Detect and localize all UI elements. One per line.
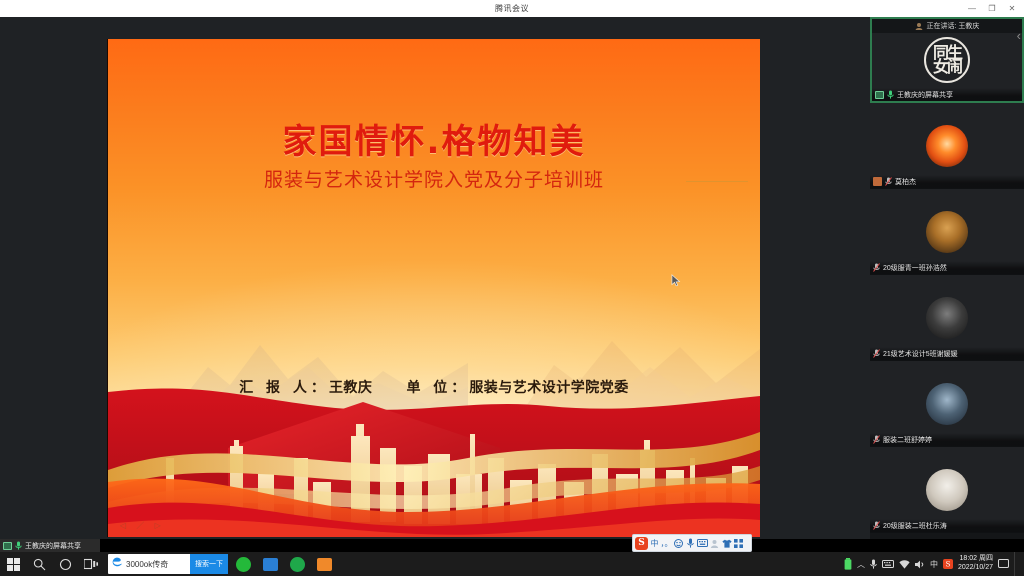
edge-icon: [111, 555, 123, 573]
avatar: [926, 297, 968, 339]
participant-tile-3[interactable]: 20级服青一班孙浩然: [870, 189, 1024, 275]
mic-muted-icon: [873, 521, 880, 530]
screen-share-notice[interactable]: 王教庆的屏幕共享: [0, 539, 100, 552]
presenter-name: 王教庆: [329, 380, 373, 396]
browser-task-label: 3000ok传奇: [126, 559, 168, 570]
taskbar-left-group: 3000ok传奇 搜索一下: [0, 552, 336, 576]
chevron-left-icon[interactable]: ‹: [1017, 29, 1021, 42]
mic-icon: [887, 90, 894, 99]
tile-namebar: 王教庆的屏幕共享: [872, 88, 1022, 101]
avatar: [926, 125, 968, 167]
cortana-icon[interactable]: [52, 552, 78, 576]
search-go-button[interactable]: 搜索一下: [190, 554, 228, 574]
mouse-cursor: [671, 274, 681, 287]
participant-tile-5[interactable]: 服装二班舒婷婷: [870, 361, 1024, 447]
participant-tile-4[interactable]: 21级艺术设计5班谢媛媛: [870, 275, 1024, 361]
participant-tile-6[interactable]: 20级服装二班杜乐涛: [870, 447, 1024, 533]
sogou-tray-icon[interactable]: S: [943, 559, 953, 569]
taskbar-clock[interactable]: 18:02 周四 2022/10/27: [958, 555, 993, 573]
tile-name: 服装二班舒婷婷: [883, 435, 932, 445]
tile-name: 20级服青一班孙浩然: [883, 263, 947, 273]
chevron-up-icon[interactable]: ︿: [857, 559, 865, 570]
avatar: [926, 383, 968, 425]
minimize-icon[interactable]: —: [962, 0, 982, 17]
folder-icon[interactable]: [258, 552, 282, 576]
avatar: [926, 469, 968, 511]
browser-search-task[interactable]: 3000ok传奇 搜索一下: [108, 554, 228, 574]
slide-divider-rule: [686, 181, 748, 182]
ime-punctuation-icon[interactable]: ，。: [661, 537, 672, 550]
clock-date: 2022/10/27: [958, 564, 993, 571]
tile-namebar: 莫柏杰: [870, 175, 1024, 188]
speaking-banner-text: 正在讲话: 王教庆: [927, 21, 980, 31]
screen-share-icon: [3, 542, 12, 550]
participant-rail[interactable]: 同生女闹 正在讲话: 王教庆 ‹ 王教庆的屏幕共享: [870, 17, 1024, 539]
window-controls: — ❐ ✕: [962, 0, 1022, 17]
tile-name: 王教庆的屏幕共享: [897, 90, 953, 100]
mic-icon: [15, 541, 22, 550]
slide-footer-line: 汇 报 人：王教庆单 位：服装与艺术设计学院党委: [108, 377, 760, 397]
slide-subtitle: 服装与艺术设计学院入党及分子培训班: [108, 165, 760, 192]
show-desktop-button[interactable]: [1014, 552, 1020, 576]
mic-muted-icon: [873, 435, 880, 444]
participant-tile-screen-share[interactable]: 同生女闹 正在讲话: 王教庆 ‹ 王教庆的屏幕共享: [870, 17, 1024, 103]
windows-taskbar: 3000ok传奇 搜索一下 ︿ 中 S 18:02 周四 2022/1: [0, 552, 1024, 576]
ime-toolbox-icon[interactable]: [733, 537, 744, 550]
system-tray: ︿ 中 S 18:02 周四 2022/10/27: [844, 552, 1024, 576]
close-icon[interactable]: ✕: [1002, 0, 1022, 17]
meeting-icon[interactable]: [312, 552, 336, 576]
tile-namebar: 服装二班舒婷婷: [870, 433, 1024, 446]
presenter-label: 汇 报 人：: [239, 380, 329, 396]
ime-keyboard-icon[interactable]: [697, 537, 708, 550]
clock-time: 18:02 周四: [960, 555, 993, 562]
start-icon[interactable]: [0, 552, 26, 576]
search-icon[interactable]: [26, 552, 52, 576]
qq-icon[interactable]: [285, 552, 309, 576]
ime-cn-icon[interactable]: 中: [930, 559, 938, 570]
task-view-icon[interactable]: [78, 552, 104, 576]
mic-muted-icon: [873, 263, 880, 272]
ime-account-icon[interactable]: [709, 537, 720, 550]
slide-nav-controls[interactable]: ◁ ／ ▷: [120, 520, 165, 531]
svg-text:S: S: [946, 561, 951, 569]
seal-avatar: 同生女闹: [924, 37, 970, 83]
speaker-avatar-icon: [915, 22, 923, 30]
mic-muted-icon: [885, 177, 892, 186]
slide-title: 家国情怀.格物知美: [108, 114, 760, 163]
maximize-icon[interactable]: ❐: [982, 0, 1002, 17]
keyboard-icon[interactable]: [882, 560, 894, 568]
notification-icon[interactable]: [998, 559, 1009, 569]
presentation-slide[interactable]: 家国情怀.格物知美 服装与艺术设计学院入党及分子培训班 汇 报 人：王教庆单 位…: [108, 39, 760, 537]
wechat-icon[interactable]: [231, 552, 255, 576]
window-title: 腾讯会议: [495, 3, 529, 14]
ime-language-toggle[interactable]: 中: [649, 537, 660, 550]
org-label: 单 位：: [406, 380, 469, 396]
meeting-window: 家国情怀.格物知美 服装与艺术设计学院入党及分子培训班 汇 报 人：王教庆单 位…: [0, 17, 1024, 539]
tile-name: 21级艺术设计5班谢媛媛: [883, 349, 958, 359]
sogou-ime-toolbar[interactable]: S 中 ，。: [632, 534, 752, 552]
ime-emoji-icon[interactable]: [673, 537, 684, 550]
org-name: 服装与艺术设计学院党委: [469, 380, 629, 396]
mic-icon[interactable]: [870, 559, 877, 569]
share-notice-label: 王教庆的屏幕共享: [25, 541, 81, 551]
shared-screen-stage: 家国情怀.格物知美 服装与艺术设计学院入党及分子培训班 汇 报 人：王教庆单 位…: [0, 17, 870, 539]
tile-namebar: 20级服青一班孙浩然: [870, 261, 1024, 274]
tile-namebar: 21级艺术设计5班谢媛媛: [870, 347, 1024, 360]
user-icon: [873, 177, 882, 186]
speaking-banner: 正在讲话: 王教庆: [872, 19, 1022, 33]
mic-muted-icon: [873, 349, 880, 358]
sogou-logo-icon[interactable]: S: [635, 537, 648, 550]
window-titlebar: 腾讯会议 — ❐ ✕: [0, 0, 1024, 17]
tile-name: 莫柏杰: [895, 177, 916, 187]
volume-icon[interactable]: [915, 560, 925, 569]
tile-namebar: 20级服装二班杜乐涛: [870, 519, 1024, 532]
battery-icon[interactable]: [844, 558, 852, 570]
ime-voice-input-icon[interactable]: [685, 537, 696, 550]
network-icon[interactable]: [899, 560, 910, 569]
tile-name: 20级服装二班杜乐涛: [883, 521, 947, 531]
avatar: [926, 211, 968, 253]
screen-share-icon: [875, 91, 884, 99]
ime-skin-icon[interactable]: [721, 537, 732, 550]
participant-tile-2[interactable]: 莫柏杰: [870, 103, 1024, 189]
